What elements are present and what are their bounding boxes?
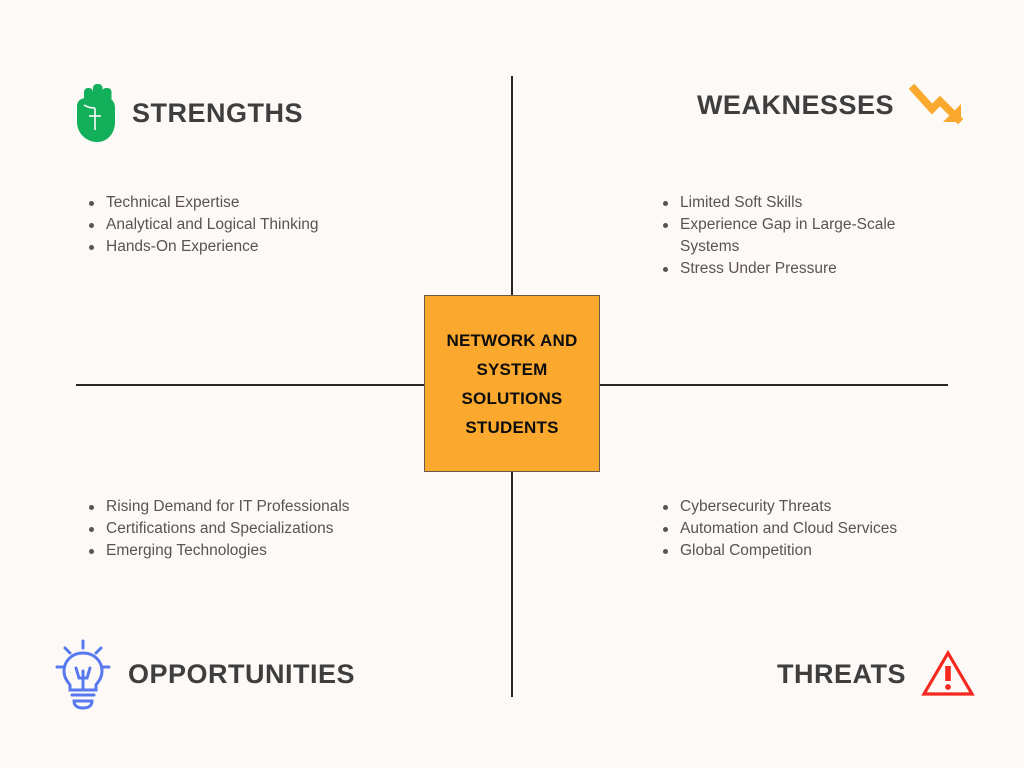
list-item: Certifications and Specializations: [84, 518, 350, 540]
heading-label-opportunities: OPPORTUNITIES: [128, 659, 355, 690]
lightbulb-icon: [52, 638, 114, 710]
quadrant-heading-weaknesses: WEAKNESSES: [697, 82, 966, 128]
quadrant-heading-opportunities: OPPORTUNITIES: [52, 638, 355, 710]
center-line-3: SOLUTIONS: [462, 384, 563, 413]
quadrant-heading-threats: THREATS: [777, 648, 976, 700]
list-item: Automation and Cloud Services: [658, 518, 897, 540]
heading-label-weaknesses: WEAKNESSES: [697, 90, 894, 121]
center-line-1: NETWORK AND: [447, 326, 578, 355]
list-strengths: Technical Expertise Analytical and Logic…: [84, 192, 319, 258]
list-opportunities: Rising Demand for IT Professionals Certi…: [84, 496, 350, 562]
downward-trend-arrow-icon: [908, 82, 966, 128]
center-subject-box: NETWORK AND SYSTEM SOLUTIONS STUDENTS: [424, 295, 600, 472]
list-item: Emerging Technologies: [84, 540, 350, 562]
quadrant-heading-strengths: STRENGTHS: [72, 82, 303, 144]
list-item: Stress Under Pressure: [658, 258, 918, 280]
list-weaknesses: Limited Soft Skills Experience Gap in La…: [658, 192, 918, 280]
list-item: Rising Demand for IT Professionals: [84, 496, 350, 518]
list-item: Hands-On Experience: [84, 236, 319, 258]
list-item: Technical Expertise: [84, 192, 319, 214]
heading-label-threats: THREATS: [777, 659, 906, 690]
swot-diagram: STRENGTHS Technical Expertise Analytical…: [0, 0, 1024, 768]
heading-label-strengths: STRENGTHS: [132, 98, 303, 129]
warning-triangle-icon: [920, 648, 976, 700]
raised-fist-icon: [72, 82, 118, 144]
list-item: Global Competition: [658, 540, 897, 562]
center-line-4: STUDENTS: [465, 413, 558, 442]
list-threats: Cybersecurity Threats Automation and Clo…: [658, 496, 897, 562]
list-item: Analytical and Logical Thinking: [84, 214, 319, 236]
list-item: Experience Gap in Large-Scale Systems: [658, 214, 918, 258]
list-item: Cybersecurity Threats: [658, 496, 897, 518]
list-item: Limited Soft Skills: [658, 192, 918, 214]
center-line-2: SYSTEM: [476, 355, 547, 384]
